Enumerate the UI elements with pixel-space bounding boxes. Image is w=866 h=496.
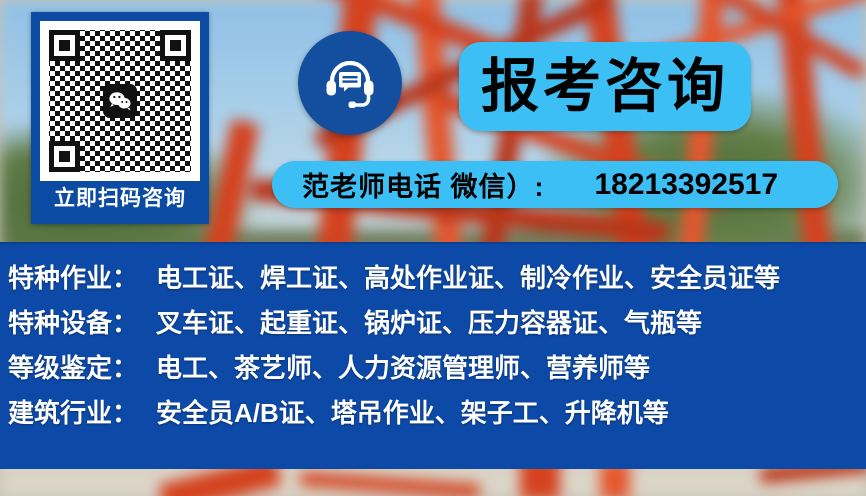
category-row: 特种设备： 叉车证、起重证、锅炉证、压力容器证、气瓶等 bbox=[8, 303, 866, 348]
category-row: 建筑行业： 安全员A/B证、塔吊作业、架子工、升降机等 bbox=[8, 393, 866, 438]
consult-cta-label: 报考咨询 bbox=[481, 58, 729, 116]
qr-caption: 立即扫码咨询 bbox=[34, 179, 206, 219]
category-name: 建筑行业： bbox=[8, 393, 138, 430]
category-items: 叉车证、起重证、锅炉证、压力容器证、气瓶等 bbox=[156, 303, 702, 340]
wechat-icon bbox=[103, 84, 137, 118]
category-name: 等级鉴定： bbox=[8, 348, 138, 385]
contact-phone-number[interactable]: 18213392517 bbox=[595, 168, 779, 202]
qr-finder-top-left bbox=[49, 30, 80, 61]
category-items: 电工、茶艺师、人力资源管理师、营养师等 bbox=[156, 348, 650, 385]
contact-label: 范老师电话 微信）: bbox=[302, 165, 545, 204]
qr-finder-bottom-left bbox=[49, 141, 80, 172]
qr-code-card[interactable]: 立即扫码咨询 bbox=[31, 12, 209, 224]
category-items: 安全员A/B证、塔吊作业、架子工、升降机等 bbox=[156, 393, 669, 430]
category-items: 电工证、焊工证、高处作业证、制冷作业、安全员证等 bbox=[156, 258, 780, 295]
contact-phone-bar[interactable]: 范老师电话 微信）: 18213392517 bbox=[272, 161, 838, 208]
category-row: 特种作业： 电工证、焊工证、高处作业证、制冷作业、安全员证等 bbox=[8, 258, 866, 303]
qr-matrix bbox=[45, 26, 195, 176]
category-name: 特种作业： bbox=[8, 258, 138, 295]
promo-poster: 立即扫码咨询 报考咨询 范老师电话 微信）: 18213392517 特种作业：… bbox=[0, 0, 866, 496]
qr-code-image[interactable] bbox=[40, 21, 200, 181]
certificate-categories-panel: 特种作业： 电工证、焊工证、高处作业证、制冷作业、安全员证等 特种设备： 叉车证… bbox=[0, 242, 866, 469]
category-row: 等级鉴定： 电工、茶艺师、人力资源管理师、营养师等 bbox=[8, 348, 866, 393]
qr-finder-top-right bbox=[160, 30, 191, 61]
consult-cta-button[interactable]: 报考咨询 bbox=[459, 42, 751, 131]
headset-support-icon bbox=[298, 31, 402, 135]
category-name: 特种设备： bbox=[8, 303, 138, 340]
